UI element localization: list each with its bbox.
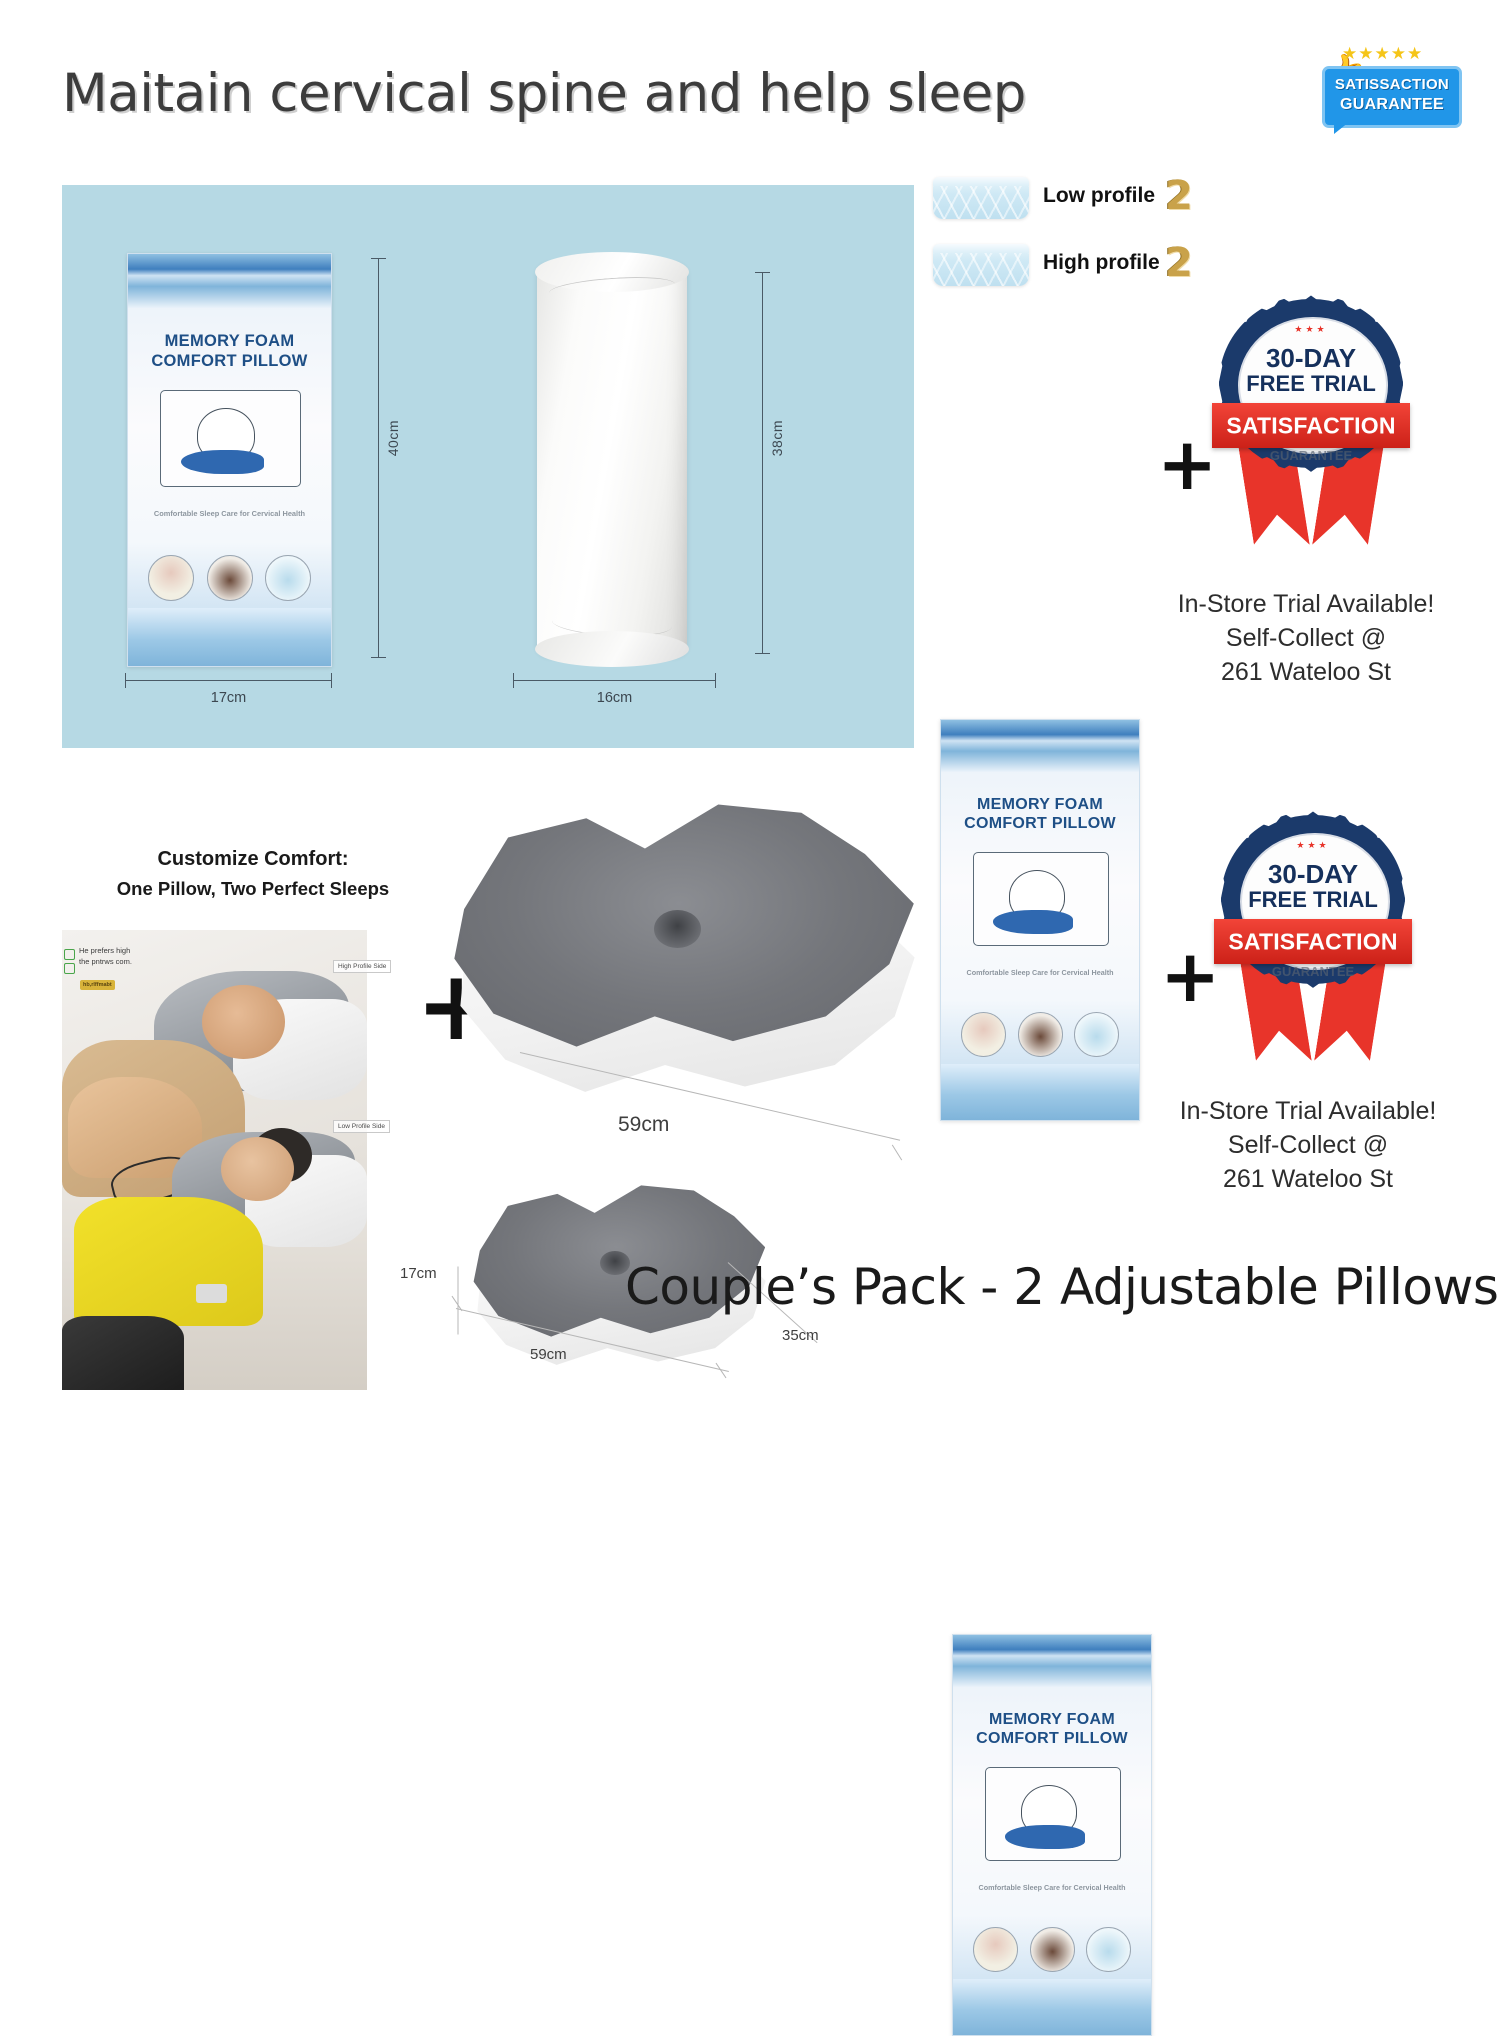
package-bottom-wave [128, 608, 331, 666]
store-info-2: In-Store Trial Available! Self-Collect @… [1152, 1095, 1464, 1196]
couple-pack-title: Couple’s Pack - 2 Adjustable Pillows [625, 1258, 1498, 1316]
package-bottom-wave [953, 1979, 1151, 2035]
sleep-posture-illustration [973, 852, 1110, 946]
package-tagline: Comfortable Sleep Care for Cervical Heal… [941, 968, 1139, 977]
badge-ribbon-band: SATISFACTION [1214, 919, 1411, 964]
badge-mini-stars-icon: ★★★ [1220, 840, 1406, 851]
store-line1: In-Store Trial Available! [1150, 588, 1462, 622]
plus-sign-offer2: + [1160, 940, 1220, 1012]
package-title-line1: MEMORY FOAM [953, 1711, 1151, 1730]
large-pillow-width-label: 59cm [618, 1113, 669, 1137]
rolled-pillow-image [537, 262, 687, 655]
badge-line2: FREE TRIAL [1218, 373, 1404, 395]
feature-circle-foam-icon [973, 1927, 1018, 1972]
roll-width-label: 16cm [513, 690, 716, 706]
large-pillow-width-tick [892, 1145, 902, 1161]
sleep-posture-illustration [160, 390, 300, 487]
product-package-front: MEMORY FOAM COMFORT PILLOW Comfortable S… [127, 253, 332, 667]
low-profile-label: Low profile [1043, 184, 1155, 208]
package-tagline: Comfortable Sleep Care for Cervical Heal… [953, 1883, 1151, 1892]
satisfaction-line2: GUARANTEE [1325, 96, 1459, 114]
customize-comfort-block: Customize Comfort: One Pillow, Two Perfe… [88, 848, 418, 900]
photo-woman-head [221, 1137, 294, 1201]
feature-circle-foam-icon [961, 1012, 1006, 1057]
package-title: MEMORY FOAM COMFORT PILLOW [941, 796, 1139, 834]
package-title-line2: COMFORT PILLOW [128, 352, 331, 371]
package-zip-top [953, 1635, 1151, 1687]
checkbox-icon-2 [64, 963, 75, 974]
checkbox-icon-1 [64, 949, 75, 960]
badge-guarantee-text: GUARANTEE [1218, 448, 1404, 463]
feature-circle-cover-icon [1086, 1927, 1131, 1972]
thirty-day-free-trial-badge-2: ★★★ 30-DAY FREE TRIAL SATISFACTION GUARA… [1220, 818, 1406, 1033]
feature-circle-material-icon [1018, 1012, 1063, 1057]
plus-sign-offer1: + [1157, 428, 1217, 500]
offer1-package-image: MEMORY FOAM COMFORT PILLOW Comfortable S… [940, 719, 1140, 1121]
package-height-line [378, 258, 379, 658]
low-profile-qty: 2 [1165, 173, 1193, 219]
roll-bottom-cap [535, 631, 689, 667]
small-pillow-width-label: 59cm [530, 1346, 567, 1363]
badge-line2: FREE TRIAL [1220, 889, 1406, 911]
offer2-package-image: MEMORY FOAM COMFORT PILLOW Comfortable S… [952, 1634, 1152, 2036]
feature-circle-cover-icon [1074, 1012, 1119, 1057]
high-profile-qty: 2 [1165, 240, 1193, 286]
small-pillow-depth-label: 35cm [782, 1327, 819, 1344]
contour-pillow-large-image [425, 788, 945, 1108]
store-line1: In-Store Trial Available! [1152, 1095, 1464, 1129]
photo-badge-left: hb,rlffmabt [80, 980, 115, 990]
package-title-line2: COMFORT PILLOW [953, 1730, 1151, 1749]
satisfaction-guarantee-badge: 👍 ★★★★★ SATISSACTION GUARANTEE [1312, 40, 1464, 140]
store-line3: 261 Wateloo St [1150, 656, 1462, 690]
pillow-center-dimple [654, 910, 701, 948]
high-profile-insert-image [933, 244, 1029, 286]
photo-watch [196, 1284, 227, 1302]
photo-note-left: He prefers high the pntrws com. [79, 946, 132, 968]
package-tagline: Comfortable Sleep Care for Cervical Heal… [128, 509, 331, 518]
badge-mini-stars-icon: ★★★ [1218, 324, 1404, 335]
small-pillow-height-line [458, 1267, 459, 1335]
profile-row-low: Low profile 2 [933, 173, 1203, 225]
package-width-label: 17cm [125, 690, 332, 706]
package-height-label: 40cm [385, 420, 401, 456]
photo-callout-top: High Profile Side [333, 960, 391, 973]
photo-woman-shirt [74, 1197, 263, 1326]
badge-guarantee-text: GUARANTEE [1220, 964, 1406, 979]
badge-ribbon-text: SATISFACTION [1212, 412, 1409, 439]
photo-woman-pants [62, 1316, 184, 1390]
package-zip-top [128, 254, 331, 308]
customize-heading: Customize Comfort: [88, 848, 418, 871]
low-profile-insert-image [933, 177, 1029, 219]
badge-tail [1334, 118, 1354, 134]
package-title: MEMORY FOAM COMFORT PILLOW [128, 332, 331, 371]
badge-line1: 30-DAY [1218, 345, 1404, 371]
store-line2: Self-Collect @ [1150, 622, 1462, 656]
satisfaction-line1: SATISSACTION [1325, 76, 1459, 93]
package-zip-top [941, 720, 1139, 772]
store-line3: 261 Wateloo St [1152, 1163, 1464, 1197]
customize-subheading: One Pillow, Two Perfect Sleeps [88, 878, 418, 900]
pillow-icon [1005, 1825, 1086, 1849]
feature-circle-material-icon [207, 555, 253, 601]
high-profile-label: High profile [1043, 251, 1160, 275]
five-stars-icon: ★★★★★ [1342, 44, 1423, 64]
package-title-line1: MEMORY FOAM [941, 796, 1139, 815]
roll-height-line [762, 272, 763, 654]
feature-circles [953, 1927, 1151, 1972]
pillow-icon [993, 910, 1074, 934]
feature-circles [941, 1012, 1139, 1057]
photo-callout-bottom: Low Profile Side [333, 1120, 390, 1133]
package-width-line [125, 680, 332, 681]
badge-ribbon-text: SATISFACTION [1214, 928, 1411, 955]
badge-ribbon-band: SATISFACTION [1212, 403, 1409, 448]
feature-circles [128, 555, 331, 601]
sleep-posture-illustration [985, 1767, 1122, 1861]
package-bottom-wave [941, 1064, 1139, 1120]
package-title-line1: MEMORY FOAM [128, 332, 331, 351]
package-title: MEMORY FOAM COMFORT PILLOW [953, 1711, 1151, 1749]
lifestyle-photo [62, 930, 367, 1390]
profile-row-high: High profile 2 [933, 240, 1203, 292]
package-title-line2: COMFORT PILLOW [941, 815, 1139, 834]
photo-man-head [202, 985, 284, 1059]
feature-circle-cover-icon [265, 555, 311, 601]
page-title: Maitain cervical spine and help sleep [62, 66, 1142, 122]
badge-line1: 30-DAY [1220, 861, 1406, 887]
roll-height-label: 38cm [769, 420, 785, 456]
feature-circle-foam-icon [148, 555, 194, 601]
roll-width-line [513, 680, 716, 681]
thirty-day-free-trial-badge-1: ★★★ 30-DAY FREE TRIAL SATISFACTION GUARA… [1218, 302, 1404, 517]
small-pillow-height-label: 17cm [400, 1265, 437, 1282]
store-line2: Self-Collect @ [1152, 1129, 1464, 1163]
store-info-1: In-Store Trial Available! Self-Collect @… [1150, 588, 1462, 689]
pillow-icon [181, 450, 264, 475]
feature-circle-material-icon [1030, 1927, 1075, 1972]
